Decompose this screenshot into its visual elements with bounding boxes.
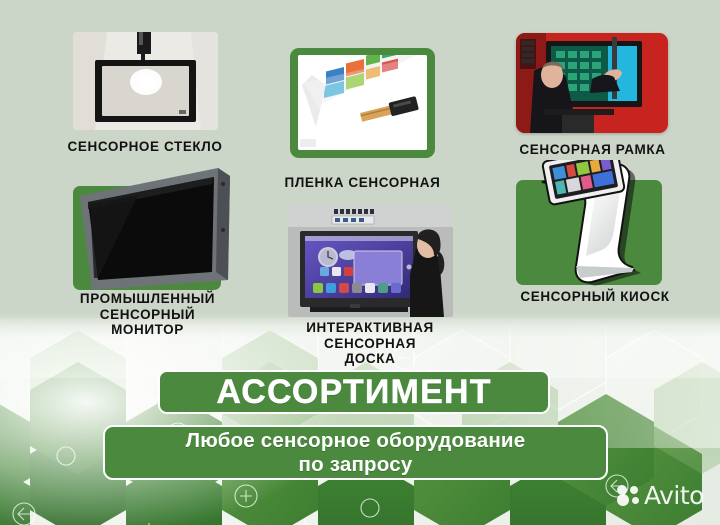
product-label-touch-frame: СЕНСОРНАЯ РАМКА	[485, 142, 700, 158]
avito-wordmark: Avito	[644, 483, 704, 508]
industrial-monitor-photo	[78, 168, 233, 290]
product-label-touch-glass: СЕНСОРНОЕ СТЕКЛО	[25, 139, 265, 155]
product-label-industrial-monitor: ПРОМЫШЛЕННЫЙ СЕНСОРНЫЙ МОНИТОР	[40, 291, 255, 338]
touch-glass-photo	[73, 32, 218, 130]
product-label-touch-kiosk: СЕНСОРНЫЙ КИОСК	[490, 289, 700, 305]
assortment-subline-line2: по запросу	[299, 453, 413, 477]
assortment-subline-line1: Любое сенсорное оборудование	[186, 429, 526, 453]
touch-kiosk-photo	[528, 160, 650, 288]
avito-watermark: Avito	[617, 482, 704, 508]
avito-dots-logo-icon	[617, 485, 641, 505]
product-label-interactive-board: ИНТЕРАКТИВНАЯ СЕНСОРНАЯ ДОСКА	[270, 320, 470, 367]
poster-root: СЕНСОРНОЕ СТЕКЛО	[0, 0, 720, 525]
product-label-touch-film: ПЛЕНКА СЕНСОРНАЯ	[260, 175, 465, 191]
assortment-headline-box: АССОРТИМЕНТ	[158, 370, 550, 414]
assortment-headline-text: АССОРТИМЕНТ	[216, 375, 491, 409]
touch-frame-photo	[516, 33, 668, 133]
assortment-subline-box: Любое сенсорное оборудование по запросу	[103, 425, 608, 480]
touch-film-photo	[298, 55, 427, 150]
interactive-board-photo	[288, 205, 453, 317]
